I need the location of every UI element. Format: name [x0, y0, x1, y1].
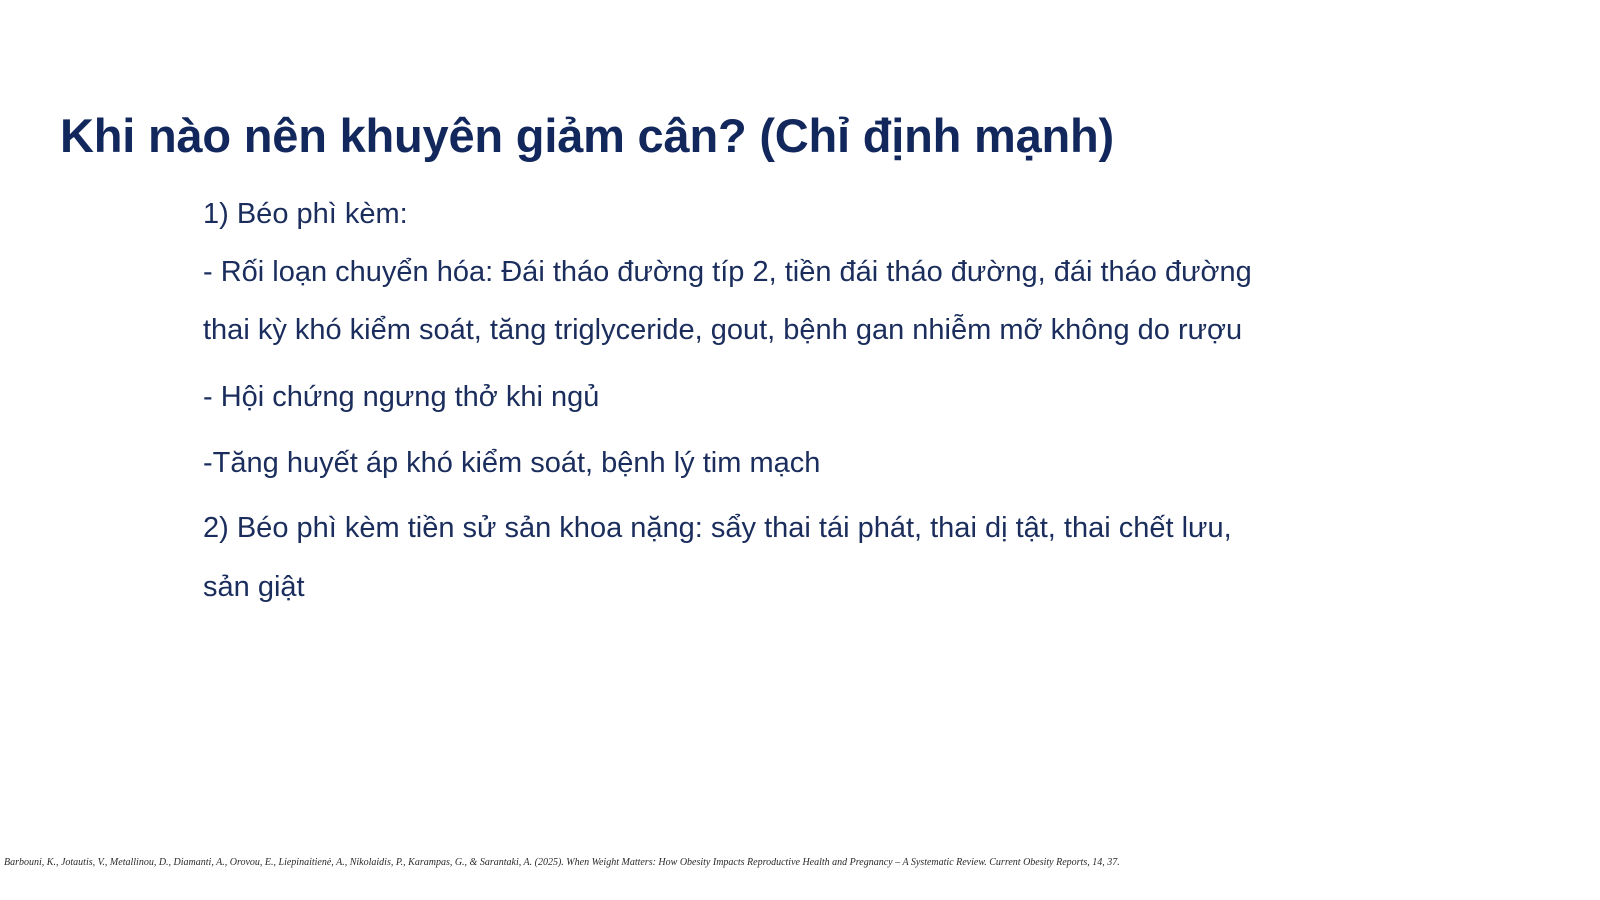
page-title: Khi nào nên khuyên giảm cân? (Chỉ định m… [60, 109, 1540, 163]
slide-body-content: 1) Béo phì kèm: - Rối loạn chuyển hóa: Đ… [203, 200, 1403, 602]
citation-reference: Barbouni, K., Jotautis, V., Metallinou, … [4, 857, 1564, 868]
body-line-6: 2) Béo phì kèm tiền sử sản khoa nặng: sẩ… [203, 514, 1403, 543]
body-line-4: - Hội chứng ngưng thở khi ngủ [203, 383, 1403, 412]
body-line-1: 1) Béo phì kèm: [203, 200, 1403, 229]
body-line-5: -Tăng huyết áp khó kiểm soát, bệnh lý ti… [203, 449, 1403, 478]
body-line-2: - Rối loạn chuyển hóa: Đái tháo đường tí… [203, 258, 1403, 287]
body-line-3: thai kỳ khó kiểm soát, tăng triglyceride… [203, 316, 1403, 345]
slide-canvas: Khi nào nên khuyên giảm cân? (Chỉ định m… [0, 0, 1600, 900]
body-line-7: sản giật [203, 573, 1403, 602]
